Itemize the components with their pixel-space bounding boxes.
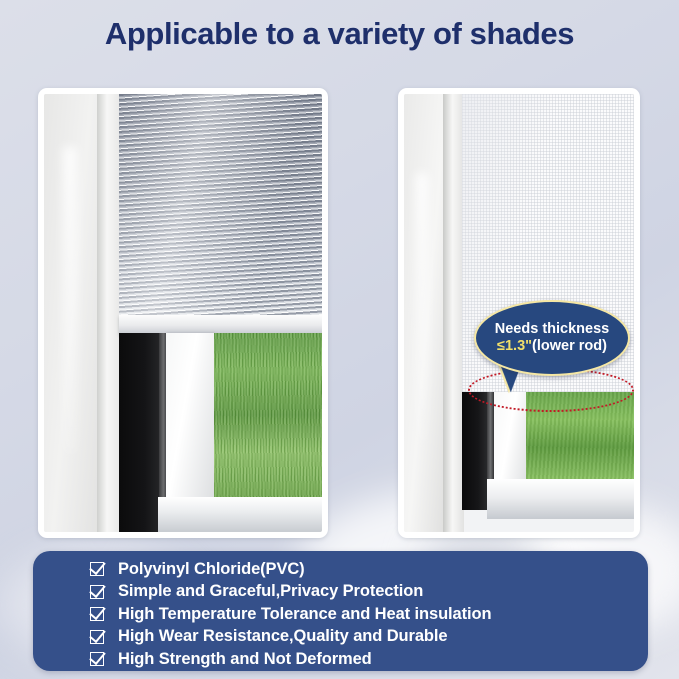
blind-light-sheen	[119, 94, 322, 322]
callout-line-1: Needs thickness	[495, 321, 609, 338]
feature-label: High Wear Resistance,Quality and Durable	[118, 627, 447, 646]
page-title: Applicable to a variety of shades	[0, 16, 679, 52]
cellular-pleated-shade-photo	[44, 94, 322, 532]
feature-label: Polyvinyl Chloride(PVC)	[118, 560, 305, 579]
checked-box-icon	[90, 585, 104, 599]
callout-bubble: Needs thickness ≤1.3"(lower rod)	[474, 300, 630, 376]
feature-label: Simple and Graceful,Privacy Protection	[118, 582, 423, 601]
checked-box-icon	[90, 562, 104, 576]
list-item: High Strength and Not Deformed	[33, 648, 648, 671]
callout-line-2: ≤1.3"(lower rod)	[497, 338, 607, 355]
outdoor-grass	[214, 333, 322, 504]
feature-label: High Strength and Not Deformed	[118, 650, 372, 669]
window-dark-gap	[462, 392, 490, 510]
pleated-blind	[119, 94, 322, 322]
thickness-callout: Needs thickness ≤1.3"(lower rod)	[474, 300, 630, 376]
window-sash	[166, 333, 213, 508]
feature-label: High Temperature Tolerance and Heat insu…	[118, 605, 491, 624]
checked-box-icon	[90, 630, 104, 644]
checked-box-icon	[90, 607, 104, 621]
blind-bottom-rail	[119, 315, 322, 333]
window-sill	[487, 479, 634, 518]
list-item: Simple and Graceful,Privacy Protection	[33, 581, 648, 604]
list-item: High Wear Resistance,Quality and Durable	[33, 626, 648, 649]
checked-box-icon	[90, 652, 104, 666]
callout-measurement: ≤1.3"	[497, 338, 532, 354]
window-sill	[158, 497, 322, 532]
left-photo-card	[38, 88, 328, 538]
callout-measurement-note: (lower rod)	[532, 338, 607, 354]
product-infographic: Applicable to a variety of shades	[0, 0, 679, 679]
list-item: Polyvinyl Chloride(PVC)	[33, 558, 648, 581]
feature-list-panel: Polyvinyl Chloride(PVC) Simple and Grace…	[33, 551, 648, 671]
list-item: High Temperature Tolerance and Heat insu…	[33, 603, 648, 626]
